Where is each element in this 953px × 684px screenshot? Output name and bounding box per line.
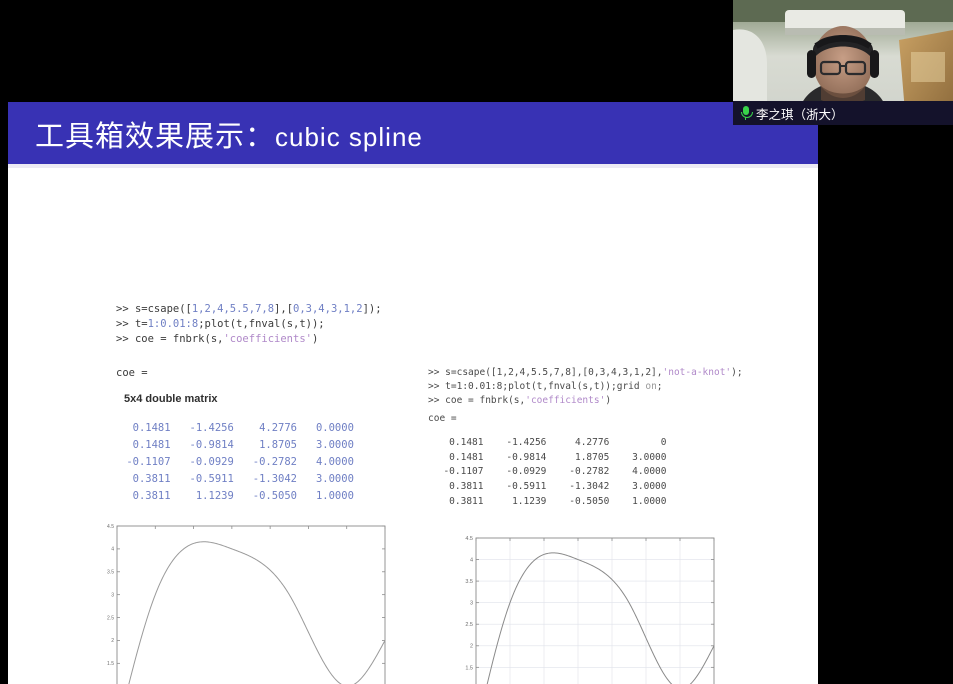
participant-name-bar: 李之琪（浙大）: [733, 101, 953, 125]
plot-right: 1234567800.511.522.533.544.5: [460, 532, 720, 684]
svg-text:3: 3: [470, 601, 473, 607]
code-block-right: >> s=csape([1,2,4,5.5,7,8],[0,3,4,3,1,2]…: [428, 366, 743, 407]
screen-share-stage: 工具箱效果展示：cubic spline >> s=csape([1,2,4,5…: [0, 0, 953, 684]
svg-text:2: 2: [111, 638, 114, 644]
svg-text:4.5: 4.5: [465, 536, 473, 542]
svg-text:1.5: 1.5: [465, 665, 473, 671]
code-left-output-label: coe =: [116, 366, 148, 381]
svg-text:2.5: 2.5: [107, 615, 114, 621]
page-title: 工具箱效果展示：cubic spline: [35, 113, 423, 155]
participant-name-label: 李之琪（浙大）: [756, 104, 844, 123]
code-right-output-label: coe =: [428, 412, 457, 426]
svg-text:2.5: 2.5: [465, 622, 473, 628]
presentation-slide: 工具箱效果展示：cubic spline >> s=csape([1,2,4,5…: [8, 102, 818, 684]
svg-text:3: 3: [111, 592, 114, 598]
page-title-en: cubic spline: [275, 122, 423, 152]
code-left-dims-label: 5x4 double matrix: [124, 392, 218, 408]
webcam-video-tile[interactable]: 李之琪（浙大）: [733, 0, 953, 125]
svg-text:3.5: 3.5: [465, 579, 473, 585]
matrix-left: 0.1481 -1.4256 4.2776 0.0000 0.1481 -0.9…: [120, 420, 354, 505]
microphone-icon[interactable]: [740, 106, 751, 121]
matrix-right: 0.1481 -1.4256 4.2776 0 0.1481 -0.9814 1…: [432, 436, 667, 510]
page-title-cn: 工具箱效果展示：: [35, 121, 275, 153]
svg-text:4: 4: [111, 547, 114, 553]
svg-text:1.5: 1.5: [107, 661, 114, 667]
svg-text:4: 4: [470, 557, 473, 563]
slide-header-underline: [8, 164, 818, 168]
svg-text:4.5: 4.5: [107, 524, 114, 530]
code-block-left: >> s=csape([1,2,4,5.5,7,8],[0,3,4,3,1,2]…: [116, 302, 382, 348]
svg-text:3.5: 3.5: [107, 570, 114, 576]
plot-left: 1234567800.511.522.533.544.5: [103, 520, 393, 684]
svg-text:2: 2: [470, 644, 473, 650]
